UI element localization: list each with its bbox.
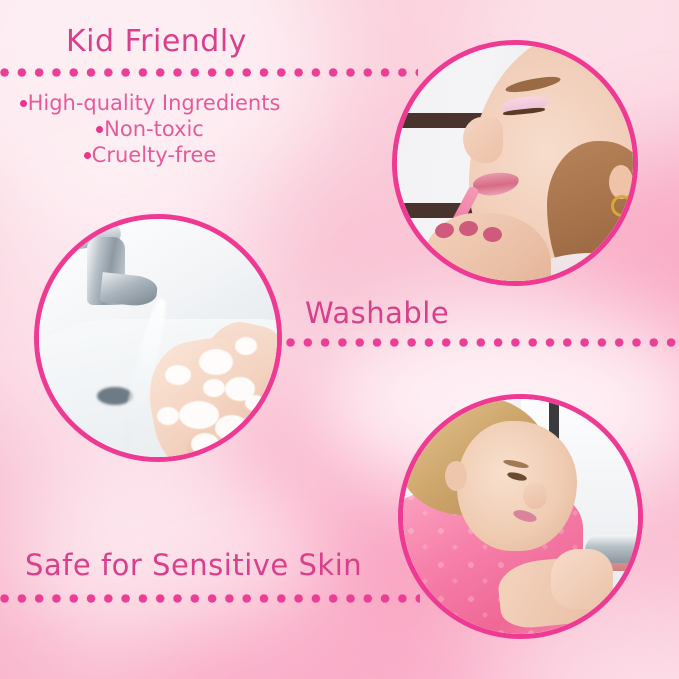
lip-gloss-photo — [392, 40, 638, 286]
toddler-washing-scene — [403, 399, 638, 634]
page-title-washable: Washable — [305, 296, 449, 330]
list-item-label: Cruelty-free — [92, 143, 217, 167]
bullet-dot-icon — [84, 152, 91, 159]
list-item: Non-toxic — [0, 116, 300, 142]
divider-washable — [286, 338, 679, 347]
feature-poster: Kid Friendly High-quality Ingredients No… — [0, 0, 679, 679]
kid-friendly-benefit-list: High-quality Ingredients Non-toxic Cruel… — [0, 90, 300, 168]
toddler-nose — [523, 483, 547, 509]
soap-foam — [199, 349, 233, 375]
soap-foam — [165, 365, 191, 385]
toddler-ear — [445, 461, 467, 491]
toddler-washing-photo — [398, 394, 643, 639]
divider-sensitive-skin — [0, 594, 420, 603]
toddler-hand — [551, 549, 613, 609]
bullet-dot-icon — [96, 126, 103, 133]
list-item: Cruelty-free — [0, 142, 300, 168]
page-title-sensitive-skin: Safe for Sensitive Skin — [25, 548, 362, 582]
soap-foam — [215, 415, 249, 441]
bullet-dot-icon — [20, 100, 27, 107]
list-item-label: Non-toxic — [104, 117, 204, 141]
list-item: High-quality Ingredients — [0, 90, 300, 116]
soapy-hands-scene — [39, 219, 277, 457]
page-title-kid-friendly: Kid Friendly — [66, 24, 247, 59]
list-item-label: High-quality Ingredients — [28, 91, 281, 115]
soap-foam — [235, 337, 257, 355]
soap-foam — [245, 395, 265, 411]
soapy-hands-photo — [34, 214, 282, 462]
water-splash — [601, 625, 609, 632]
toddler-face — [457, 421, 577, 551]
girl-nose — [463, 117, 503, 163]
soap-foam — [157, 407, 179, 425]
girl-ear — [609, 165, 633, 199]
soap-foam — [203, 379, 225, 397]
soap-foam — [179, 401, 219, 429]
divider-kid-friendly — [0, 68, 418, 77]
soap-foam — [191, 433, 219, 455]
earring-icon — [611, 195, 633, 217]
lip-gloss-scene — [397, 45, 633, 281]
